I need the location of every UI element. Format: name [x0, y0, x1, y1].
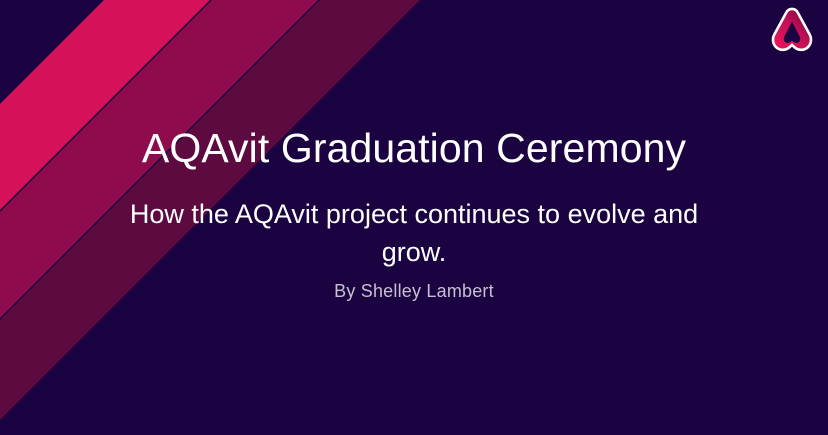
aqavit-logo [769, 7, 815, 53]
slide-byline: By Shelley Lambert [0, 281, 828, 302]
slide-subtitle: How the AQAvit project continues to evol… [100, 195, 728, 272]
presentation-title-slide: AQAvit Graduation Ceremony How the AQAvi… [0, 0, 828, 435]
logo-a-glyph [774, 10, 809, 48]
slide-title: AQAvit Graduation Ceremony [0, 126, 828, 172]
stripe-band-1 [0, 0, 210, 210]
